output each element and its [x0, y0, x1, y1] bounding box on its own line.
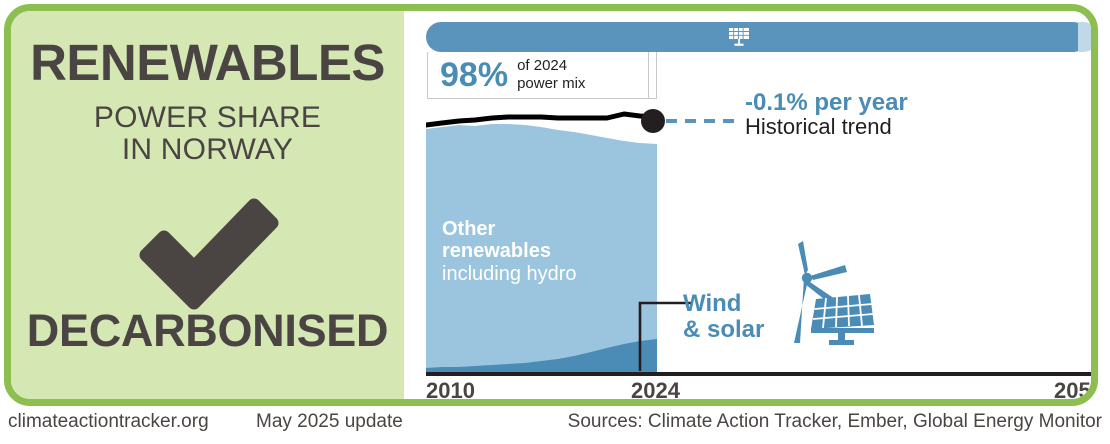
area-label-line-3: including hydro	[442, 263, 577, 285]
trend-rate: -0.1% per year	[745, 90, 908, 115]
trend-caption: Historical trend	[745, 115, 908, 139]
subtitle-line-2: IN NORWAY	[94, 134, 321, 166]
trend-annotation: -0.1% per year Historical trend	[745, 90, 908, 140]
status-badge: DECARBONISED	[11, 308, 404, 353]
series-total-line	[426, 114, 657, 125]
footer-site[interactable]: climateactiontracker.org	[8, 411, 209, 433]
trend-dashed-line	[666, 119, 739, 123]
footer: climateactiontracker.org May 2025 update…	[0, 411, 1110, 441]
page-subtitle: POWER SHARE IN NORWAY	[94, 102, 321, 167]
x-tick-2024: 2024	[631, 378, 680, 404]
data-point-marker	[641, 109, 665, 133]
footer-update-date: May 2025 update	[256, 411, 403, 433]
chart-panel: 98% of 2024 power mix	[404, 11, 1091, 399]
series-label-other-renewables: Other renewables including hydro	[442, 218, 577, 285]
infographic-root: RENEWABLES POWER SHARE IN NORWAY DECARBO…	[0, 0, 1110, 444]
footer-sources: Sources: Climate Action Tracker, Ember, …	[568, 411, 1102, 433]
area-label-line-1: Other	[442, 218, 577, 240]
summary-panel: RENEWABLES POWER SHARE IN NORWAY DECARBO…	[11, 11, 404, 399]
x-tick-2010: 2010	[426, 378, 475, 404]
wind-solar-line-2: & solar	[683, 317, 764, 343]
x-tick-2050: 2050	[1054, 378, 1098, 404]
solar-panel-icon	[811, 294, 874, 345]
page-title: RENEWABLES	[30, 37, 385, 88]
x-axis-line	[426, 372, 1098, 376]
area-label-line-2: renewables	[442, 240, 577, 262]
check-mark-icon	[132, 193, 284, 318]
infographic-frame: RENEWABLES POWER SHARE IN NORWAY DECARBO…	[4, 4, 1098, 406]
wind-solar-icon-group	[774, 237, 874, 345]
series-label-wind-solar: Wind & solar	[683, 291, 764, 344]
wind-solar-line-1: Wind	[683, 291, 764, 317]
subtitle-line-1: POWER SHARE	[94, 102, 321, 134]
x-axis-labels: 2010 2024 2050	[404, 378, 1091, 406]
